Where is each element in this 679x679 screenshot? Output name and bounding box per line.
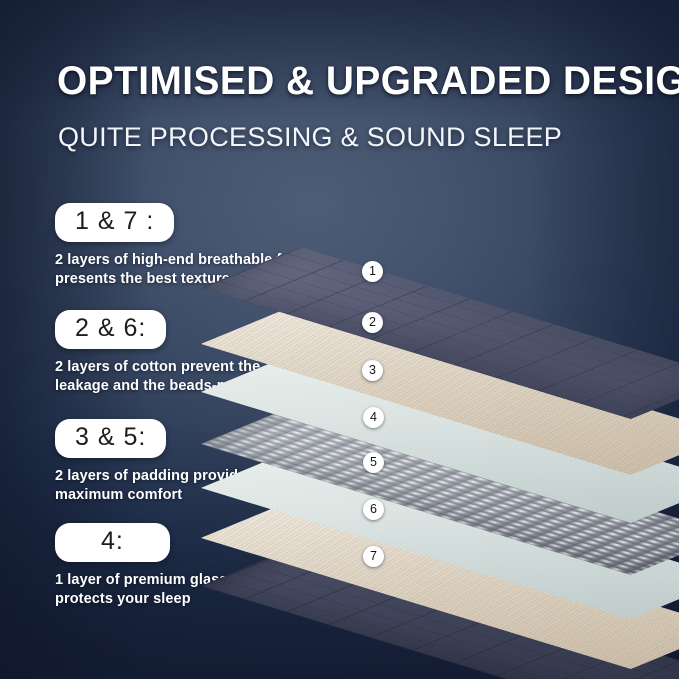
layer-1 xyxy=(300,247,679,397)
callout-2-label: 2 & 6: xyxy=(75,314,146,342)
callout-3-label: 3 & 5: xyxy=(75,423,146,451)
layer-number-badge-5: 5 xyxy=(363,452,384,473)
layer-number-badge-7: 7 xyxy=(363,546,384,567)
layer-number-badge-3: 3 xyxy=(362,360,383,381)
page-title: OPTIMISED & UPGRADED DESIGN xyxy=(57,58,629,104)
callout-2-badge: 2 & 6: xyxy=(55,310,166,349)
product-infographic: 1 2 3 4 5 6 7 OPTIMISED & UPGRADED DESIG… xyxy=(0,0,679,679)
layer-number-badge-6: 6 xyxy=(363,499,384,520)
callout-3-badge: 3 & 5: xyxy=(55,419,166,458)
page-subtitle: QUITE PROCESSING & SOUND SLEEP xyxy=(58,120,562,154)
layer-number-badge-2: 2 xyxy=(362,312,383,333)
callout-4-badge: 4: xyxy=(55,523,170,562)
callout-1-label: 1 & 7 : xyxy=(75,207,154,235)
layer-number-badge-1: 1 xyxy=(362,261,383,282)
callout-1-badge: 1 & 7 : xyxy=(55,203,174,242)
callout-4-label: 4: xyxy=(101,527,124,555)
layer-number-badge-4: 4 xyxy=(363,407,384,428)
